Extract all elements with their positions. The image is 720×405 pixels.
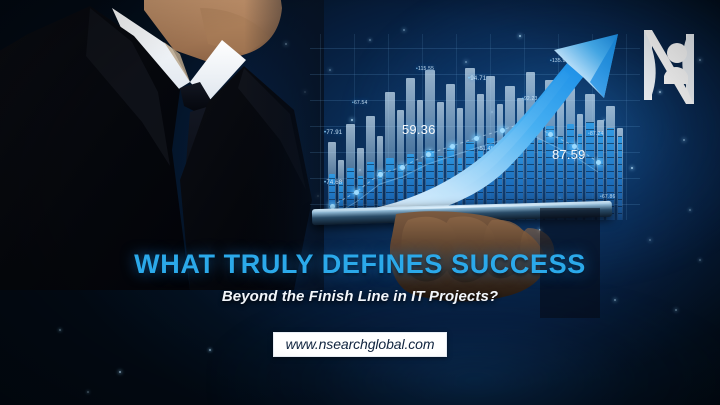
banner-root: •77.91•74.68•67.54•115.55•94.71•92.23•13… <box>0 0 720 405</box>
vignette-overlay <box>0 0 720 405</box>
